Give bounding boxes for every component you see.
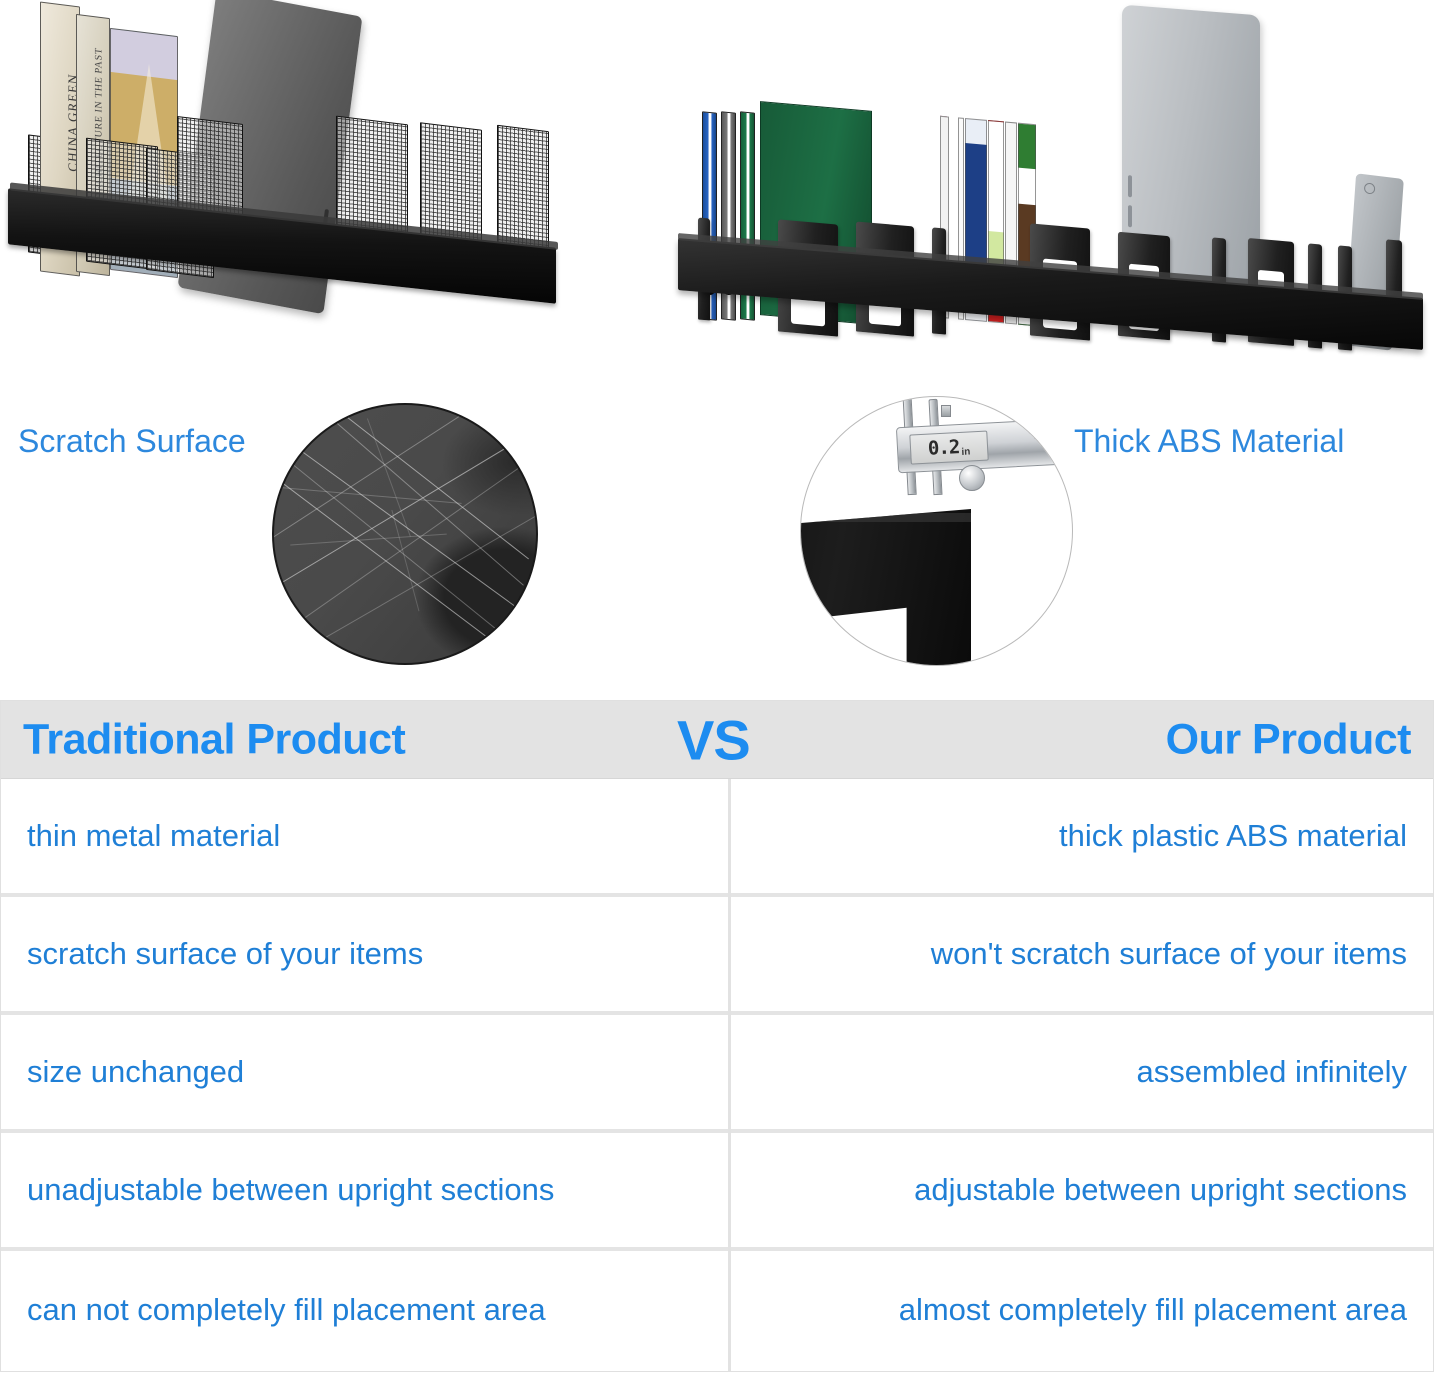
scratch-surface-image xyxy=(272,403,538,665)
comparison-table-body: thin metal material thick plastic ABS ma… xyxy=(1,779,1433,1371)
our-product-cell: thick plastic ABS material xyxy=(727,818,1433,854)
our-product-cell: won't scratch surface of your items xyxy=(727,936,1433,972)
traditional-cell: can not completely fill placement area xyxy=(1,1292,727,1328)
table-row: scratch surface of your items won't scra… xyxy=(1,897,1433,1015)
traditional-cell: size unchanged xyxy=(1,1054,727,1090)
traditional-cell: unadjustable between upright sections xyxy=(1,1172,727,1208)
header-vs-label: VS xyxy=(677,707,750,772)
infographic-page: CHINA GREEN ARCHITECTURE IN THE PAST xyxy=(0,0,1445,1377)
header-traditional-product: Traditional Product xyxy=(23,715,405,764)
traditional-product-photo: CHINA GREEN ARCHITECTURE IN THE PAST xyxy=(0,0,600,340)
our-product-photo xyxy=(660,0,1445,380)
callout-label-thick-abs-material: Thick ABS Material xyxy=(1074,423,1344,460)
table-row: can not completely fill placement area a… xyxy=(1,1251,1433,1369)
caliper-value: 0.2 xyxy=(927,436,959,460)
table-row: size unchanged assembled infinitely xyxy=(1,1015,1433,1133)
thick-abs-material-image: 0.2 in xyxy=(800,396,1073,666)
callout-label-scratch-surface: Scratch Surface xyxy=(18,423,246,460)
column-divider xyxy=(728,779,731,1371)
feature-callouts-zone: Scratch Surface 0.2 i xyxy=(0,390,1445,680)
caliper-display: 0.2 in xyxy=(909,431,988,465)
abs-plastic-corner xyxy=(800,509,971,666)
comparison-table-header: Traditional Product VS Our Product xyxy=(1,701,1433,779)
traditional-cell: thin metal material xyxy=(1,818,727,854)
header-our-product: Our Product xyxy=(1166,715,1411,764)
caliper-thumb-screw xyxy=(941,405,951,417)
our-product-cell: almost completely fill placement area xyxy=(727,1292,1433,1328)
comparison-table: Traditional Product VS Our Product thin … xyxy=(0,700,1434,1372)
caliper-roller xyxy=(959,465,985,491)
table-row: unadjustable between upright sections ad… xyxy=(1,1133,1433,1251)
product-photos-zone: CHINA GREEN ARCHITECTURE IN THE PAST xyxy=(0,0,1445,390)
digital-caliper: 0.2 in xyxy=(896,419,1063,474)
caliper-unit: in xyxy=(961,446,970,457)
our-product-cell: adjustable between upright sections xyxy=(727,1172,1433,1208)
traditional-cell: scratch surface of your items xyxy=(1,936,727,972)
our-product-cell: assembled infinitely xyxy=(727,1054,1433,1090)
table-row: thin metal material thick plastic ABS ma… xyxy=(1,779,1433,897)
